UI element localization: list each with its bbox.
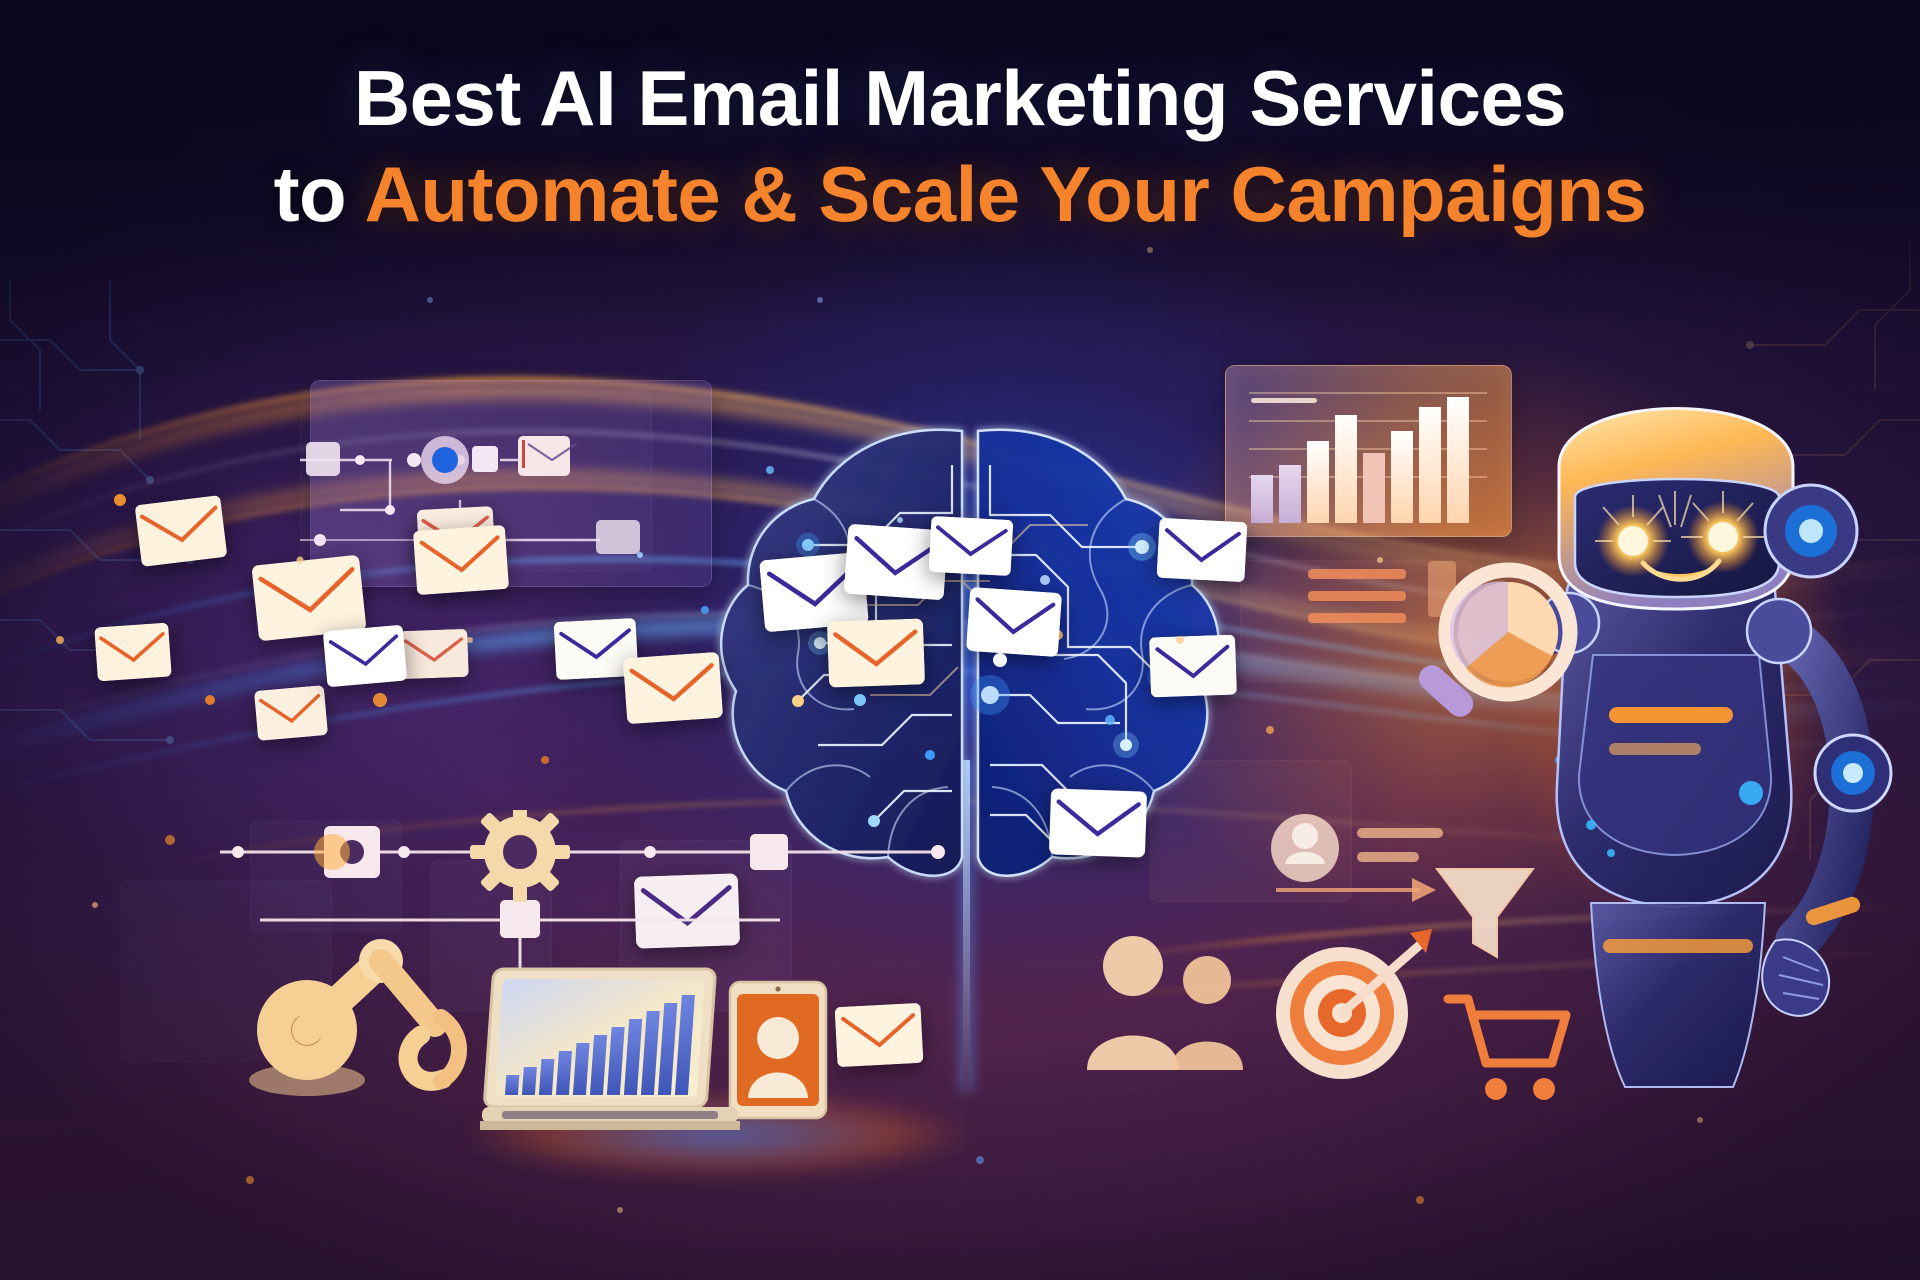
magnifier-icon — [1400, 560, 1590, 760]
funnel-icon — [1425, 855, 1545, 975]
arrow-icon — [1270, 870, 1450, 910]
audience-icon — [1075, 920, 1275, 1080]
target-icon — [1260, 925, 1440, 1095]
envelope-icon — [323, 625, 408, 688]
automation-flow-diagram — [300, 390, 720, 590]
envelope-icon — [94, 622, 172, 681]
laptop-device — [480, 965, 740, 1140]
headline-line-2-prefix: to — [274, 150, 365, 238]
shopping-cart-icon — [1440, 985, 1580, 1115]
envelope-icon — [254, 685, 328, 741]
envelope-icon — [1049, 788, 1147, 857]
envelope-icon — [834, 1003, 923, 1067]
headline-line-2-highlight: Automate & Scale Your Campaigns — [364, 150, 1646, 238]
envelope-icon — [929, 516, 1014, 576]
headline-line-2: to Automate & Scale Your Campaigns — [0, 153, 1920, 236]
envelope-icon — [1156, 518, 1247, 583]
hero-banner: Best AI Email Marketing Services to Auto… — [0, 0, 1920, 1280]
envelope-icon — [623, 652, 723, 725]
envelope-icon — [399, 629, 469, 679]
phone-device — [728, 980, 828, 1120]
headline-line-1: Best AI Email Marketing Services — [0, 58, 1920, 139]
envelope-icon — [827, 618, 925, 687]
envelope-icon — [966, 587, 1062, 657]
envelope-icon — [1149, 635, 1237, 698]
envelope-icon — [135, 495, 228, 567]
envelope-icon — [413, 525, 509, 595]
page-title: Best AI Email Marketing Services to Auto… — [0, 58, 1920, 236]
